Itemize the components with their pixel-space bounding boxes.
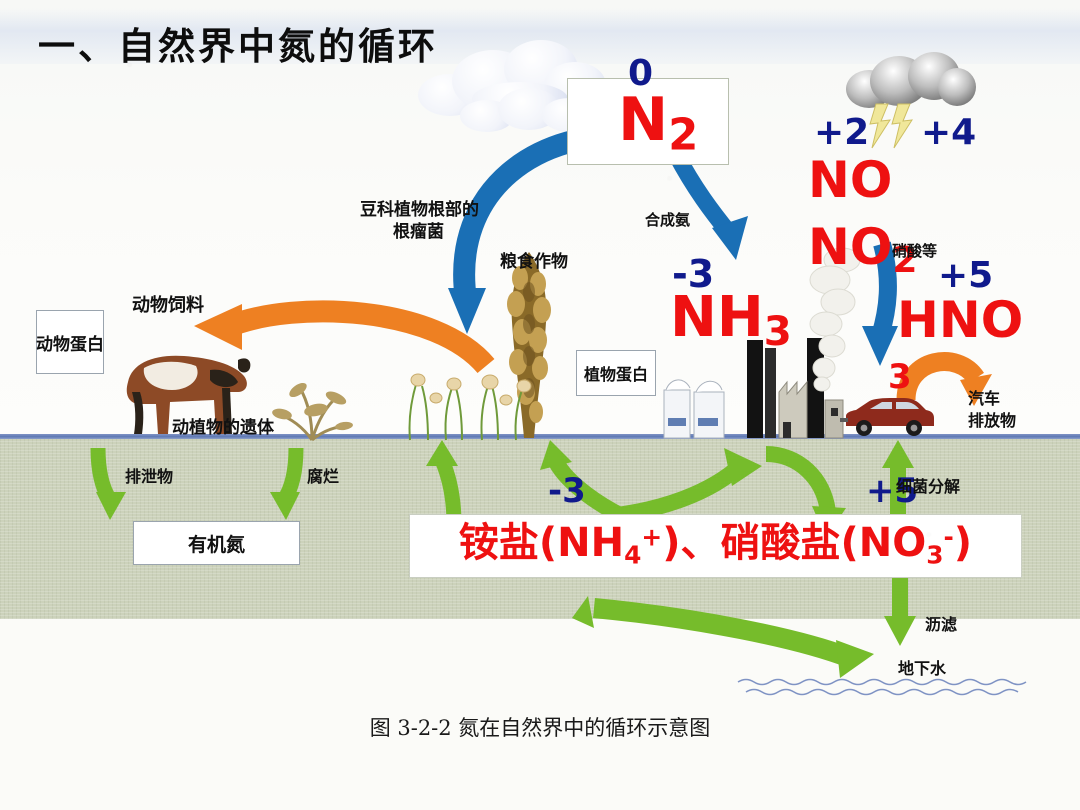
fertilizer-bags-illustration [660,368,730,438]
bacteria-decompose-label: 细菌分解 [896,478,960,497]
groundwater-waves [738,676,1038,700]
ammonium-salt-text: 铵盐(NH [459,520,624,566]
page-title: 一、自然界中氮的循环 [38,16,438,70]
ammonium-sub: 4 [624,541,641,570]
slide-canvas: 一、自然界中氮的循环 [0,0,1080,810]
organic-nitrogen-label: 有机氮 [188,530,245,557]
organic-nitrogen-box: 有机氮 [133,521,300,565]
nh3-formula-sub: 3 [764,308,792,355]
decay-label: 腐烂 [307,468,339,487]
no-formula: NO [808,155,892,205]
ammonia-synthesis-label: 合成氨 [645,212,690,230]
dead-plant-illustration [272,378,354,440]
nh3-formula-main: NH [670,285,764,350]
car-illustration [840,396,938,438]
no2-formula-main: NO [808,218,892,276]
n2-formula: N2 [618,90,698,158]
plant-protein-box: 植物蛋白 [576,350,656,396]
n2-formula-sub: 2 [668,111,698,161]
hno3-oxidation-state: +5 [938,258,993,294]
plant-protein-label: 植物蛋白 [584,361,648,385]
hno3-formula-sub: 3 [888,360,912,394]
figure-caption: 图 3-2-2 氮在自然界中的循环示意图 [0,712,1080,742]
no2-oxidation-state: +4 [921,115,976,151]
nitrate-charge: - [944,523,954,552]
nitrate-salt-text: )、硝酸盐(NO [662,520,926,566]
animal-feed-label: 动物饲料 [132,295,204,316]
green-arrow-decay [266,446,312,522]
groundwater-label: 地下水 [898,660,946,679]
animal-protein-label: 动物蛋白 [36,330,104,355]
lightning-icon [868,104,916,150]
nh3-formula: NH3 [670,290,792,352]
car-exhaust-label-line2: 排放物 [968,412,1016,431]
n2-formula-main: N [618,85,668,155]
rhizobium-label-line2: 根瘤菌 [393,222,444,242]
grain-crops-label: 粮食作物 [500,252,568,272]
hno3-formula-main: HNO [897,295,1023,345]
salts-box: 铵盐(NH4+)、硝酸盐(NO3-) [409,514,1022,578]
grass-illustration [400,372,530,440]
rhizobium-label-line1: 豆科植物根部的 [360,200,479,220]
salts-formula: 铵盐(NH4+)、硝酸盐(NO3-) [459,523,972,568]
excreta-label: 排泄物 [125,468,173,487]
dead-bodies-label: 动植物的遗体 [172,418,274,438]
leaching-label: 沥滤 [925,616,957,635]
animal-protein-box: 动物蛋白 [36,310,104,374]
nitric-acid-etc-label: 硝酸等 [892,243,937,261]
nitrate-close-paren: ) [954,520,972,566]
car-exhaust-label-line1: 汽车 [968,390,1000,409]
salt-ammonium-oxidation: -3 [548,474,586,508]
green-arrow-to-groundwater [578,596,898,686]
nitrate-sub: 3 [926,541,943,570]
ammonium-charge: + [641,523,662,552]
no-oxidation-state: +2 [814,115,869,151]
